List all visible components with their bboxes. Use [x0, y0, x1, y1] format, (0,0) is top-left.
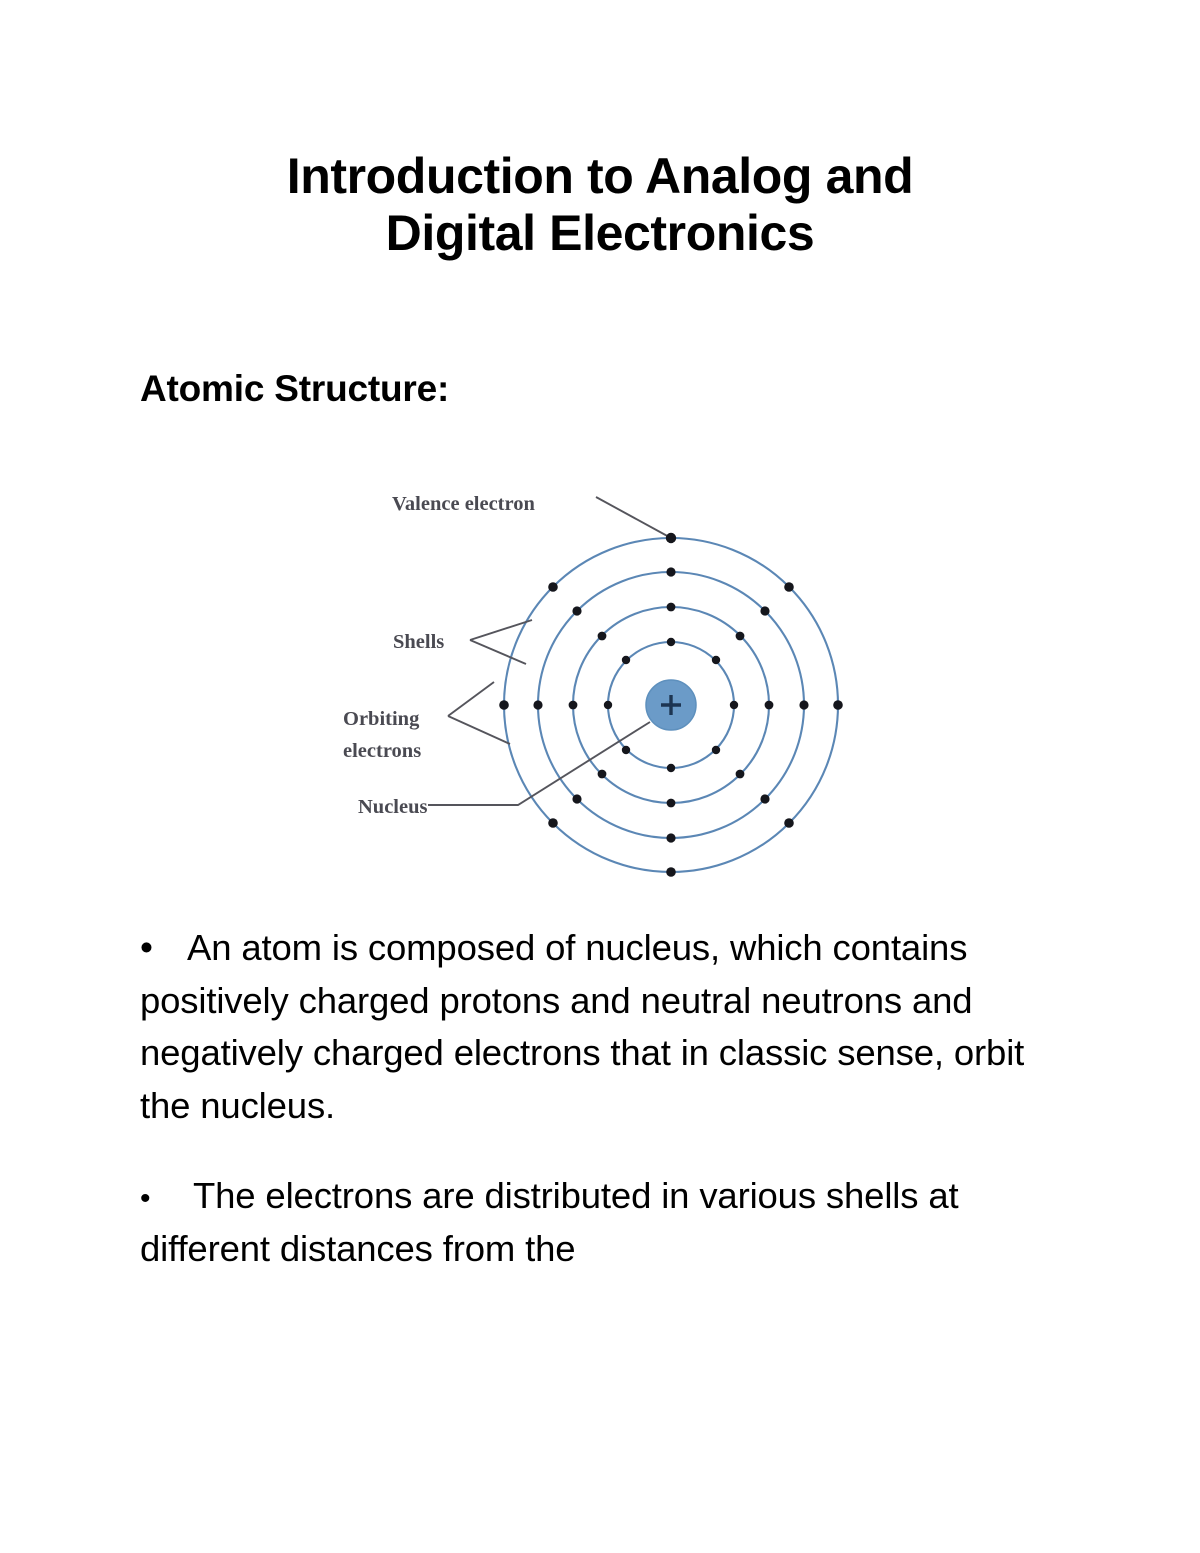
electron-dot: [622, 656, 630, 664]
electron-dot: [548, 818, 558, 828]
label-valence-electron: Valence electron: [392, 493, 535, 515]
bullet-paragraph-1: •An atom is composed of nucleus, which c…: [140, 922, 1065, 1132]
electron-dot: [784, 818, 794, 828]
electron-dot: [760, 606, 769, 615]
leader-line-nucleus: [428, 722, 650, 805]
electron-dot: [760, 794, 769, 803]
electron-dot: [666, 833, 675, 842]
electron-dot: [598, 770, 607, 779]
bullet-text-1: An atom is composed of nucleus, which co…: [140, 927, 1024, 1126]
leader-line-orbiting-lower: [448, 716, 510, 744]
title-line-2: Digital Electronics: [140, 205, 1060, 262]
document-title: Introduction to Analog and Digital Elect…: [140, 148, 1060, 262]
leader-line-shells-lower: [470, 640, 526, 664]
label-nucleus: Nucleus: [358, 796, 428, 818]
label-shells: Shells: [393, 631, 444, 653]
leader-line-orbiting-upper: [448, 682, 494, 716]
title-line-1: Introduction to Analog and: [140, 148, 1060, 205]
leader-line-valence-electron: [596, 497, 671, 538]
label-orbiting-electrons-line2: electrons: [343, 740, 421, 762]
electron-dot: [712, 746, 720, 754]
document-page: Introduction to Analog and Digital Elect…: [0, 0, 1200, 1553]
electron-dot: [667, 603, 676, 612]
electron-dot: [667, 799, 676, 808]
electron-dot: [736, 770, 745, 779]
electron-dot: [572, 794, 581, 803]
electron-dot: [533, 700, 542, 709]
electron-dot: [548, 582, 558, 592]
section-heading-atomic-structure: Atomic Structure:: [140, 368, 449, 410]
electron-dot: [667, 638, 675, 646]
bullet-marker: •: [140, 1184, 157, 1214]
electron-dot: [712, 656, 720, 664]
electron-dot: [572, 606, 581, 615]
electron-dot: [569, 701, 578, 710]
electron-dot: [799, 700, 808, 709]
label-orbiting-electrons-line1: Orbiting: [343, 708, 420, 730]
atomic-structure-figure: Valence electron Shells Orbiting electro…: [320, 460, 880, 890]
bullet-marker: •: [140, 929, 157, 966]
electron-dot: [765, 701, 774, 710]
electron-dot: [499, 700, 509, 710]
electron-dot: [622, 746, 630, 754]
electron-dot: [736, 632, 745, 641]
electron-dot: [730, 701, 738, 709]
bullet-text-2: The electrons are distributed in various…: [140, 1175, 958, 1269]
electron-dot: [666, 867, 676, 877]
electron-dot: [598, 632, 607, 641]
body-text: •An atom is composed of nucleus, which c…: [140, 922, 1065, 1285]
electron-dot: [784, 582, 794, 592]
electron-dot: [604, 701, 612, 709]
valence-electron-dot: [666, 533, 676, 543]
electron-dot: [666, 567, 675, 576]
electron-dot: [833, 700, 843, 710]
electron-dot: [667, 764, 675, 772]
bullet-paragraph-2: •The electrons are distributed in variou…: [140, 1170, 1065, 1275]
